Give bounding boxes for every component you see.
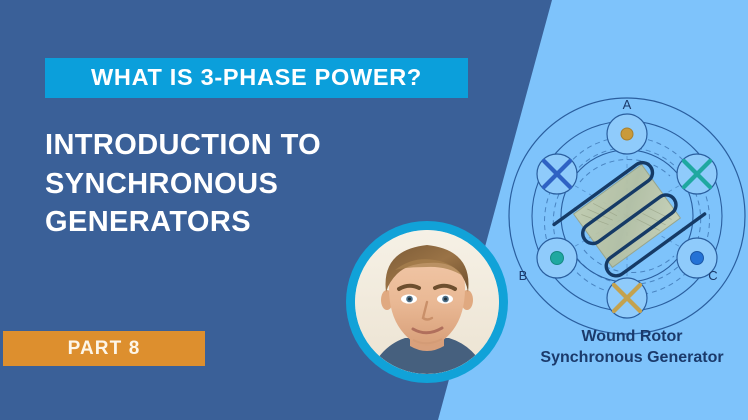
page-title-line-2: SYNCHRONOUS <box>45 165 445 204</box>
phase-label-a: A <box>623 97 632 112</box>
presentation-slide: WHAT IS 3-PHASE POWER? INTRODUCTION TO S… <box>0 0 748 420</box>
diagram-caption-line-2: Synchronous Generator <box>516 347 748 368</box>
part-badge: PART 8 <box>3 331 205 366</box>
kicker-banner: WHAT IS 3-PHASE POWER? <box>45 58 468 98</box>
generator-diagram: A B C <box>497 88 748 333</box>
page-title: INTRODUCTION TO SYNCHRONOUS GENERATORS <box>45 126 445 242</box>
phase-label-b: B <box>519 268 528 283</box>
page-title-line-1: INTRODUCTION TO <box>45 126 445 165</box>
diagram-caption: Wound Rotor Synchronous Generator <box>516 326 748 368</box>
phase-label-c: C <box>708 268 717 283</box>
avatar-photo <box>355 230 499 374</box>
stator-slot-b-lower <box>537 238 577 278</box>
kicker-label: WHAT IS 3-PHASE POWER? <box>91 66 422 90</box>
part-badge-label: PART 8 <box>68 339 141 358</box>
rotor-core <box>574 165 681 268</box>
stator-slot-b-upper <box>537 154 577 194</box>
presenter-portrait-illustration <box>355 230 499 374</box>
avatar <box>346 221 508 383</box>
stator-slot-a-bottom <box>607 278 647 318</box>
stator-slot-a-top <box>607 114 647 154</box>
diagram-caption-line-1: Wound Rotor <box>516 326 748 347</box>
stator-slot-c-upper <box>677 154 717 194</box>
